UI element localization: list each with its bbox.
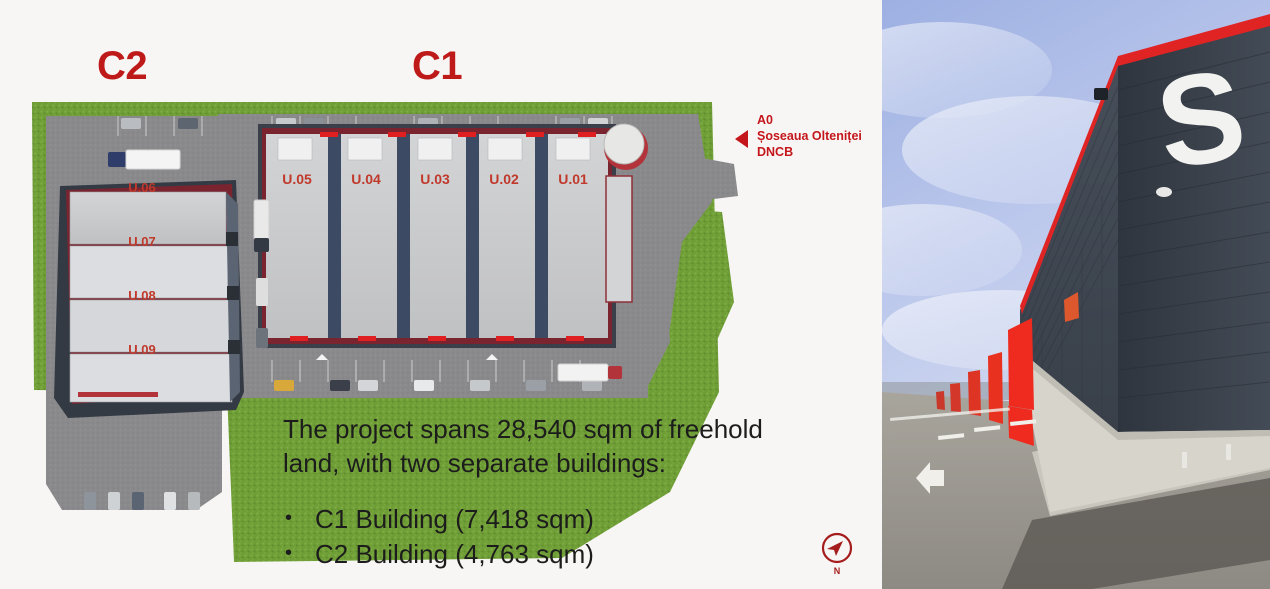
wall-light — [1156, 187, 1172, 197]
list-item: C2 Building (4,763 sqm) — [283, 537, 803, 572]
truck-c1-south — [558, 364, 622, 381]
description-text-block: The project spans 28,540 sqm of freehold… — [283, 412, 803, 572]
unit-label-u06: U.06 — [128, 180, 155, 195]
road-label-line-2: Șoseaua Olteniței — [757, 128, 862, 144]
svg-text:U.01: U.01 — [558, 171, 588, 187]
left-triangle-arrow-icon — [735, 130, 748, 148]
unit-label-u09: U.09 — [128, 342, 155, 357]
building-title-c1: C1 — [412, 46, 462, 86]
road-label-text: A0 Șoseaua Olteniței DNCB — [757, 112, 862, 160]
svg-text:U.04: U.04 — [351, 171, 381, 187]
unit-label-u08: U.08 — [128, 288, 155, 303]
compass-north-label: N — [818, 566, 856, 576]
warehouse-exterior-photo: S — [882, 0, 1270, 589]
road-label-line-3: DNCB — [757, 144, 862, 160]
building-bullet-list: C1 Building (7,418 sqm) C2 Building (4,7… — [283, 502, 803, 572]
compass-rose: N — [818, 530, 862, 582]
building-title-c2: C2 — [97, 46, 147, 86]
description-line-2: land, with two separate buildings: — [283, 446, 803, 480]
list-item: C1 Building (7,418 sqm) — [283, 502, 803, 537]
svg-text:U.05: U.05 — [282, 171, 312, 187]
svg-text:U.02: U.02 — [489, 171, 519, 187]
compass-rose-icon — [818, 530, 858, 570]
site-plan-panel: C2 C1 — [0, 0, 882, 589]
svg-text:U.03: U.03 — [420, 171, 450, 187]
truck-c2-north — [108, 150, 180, 169]
building-c1 — [258, 124, 616, 348]
presentation-slide: C2 C1 — [0, 0, 1270, 589]
unit-label-u07: U.07 — [128, 234, 155, 249]
description-line-1: The project spans 28,540 sqm of freehold — [283, 412, 803, 446]
security-camera — [1094, 88, 1108, 100]
road-label-line-1: A0 — [757, 112, 862, 128]
